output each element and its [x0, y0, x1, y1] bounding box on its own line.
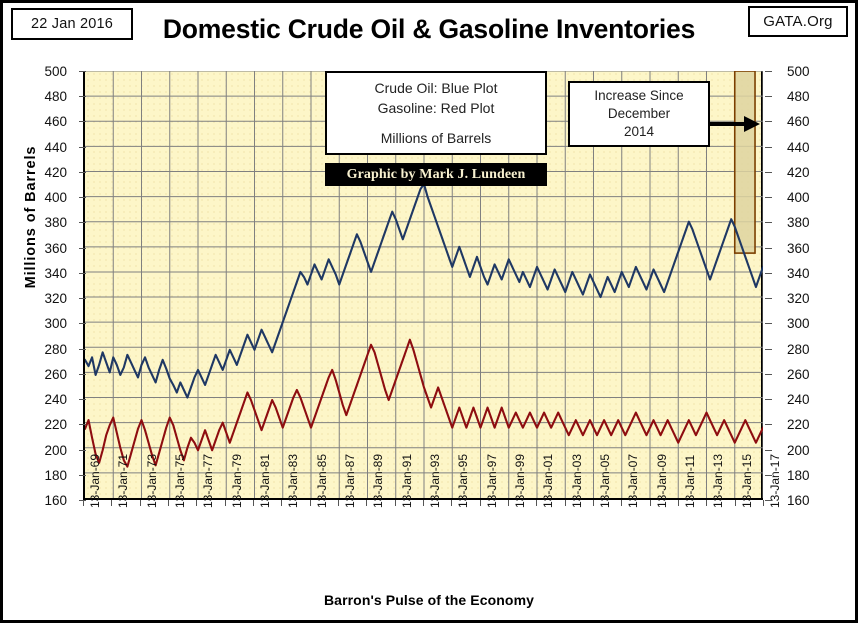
y-tick-label-left-460: 460	[44, 114, 67, 129]
x-tick-label-13-Jan-05: 13-Jan-05	[598, 454, 612, 508]
x-tick-label-13-Jan-73: 13-Jan-73	[145, 454, 159, 508]
x-tick-mark	[395, 500, 396, 506]
y-tick-mark	[765, 399, 772, 400]
annotation-line-3: 2014	[624, 123, 654, 141]
y-tick-label-right-500: 500	[787, 64, 810, 79]
x-tick-mark	[281, 500, 282, 506]
y-tick-mark	[79, 349, 86, 350]
y-tick-mark	[79, 147, 86, 148]
y-tick-label-left-500: 500	[44, 64, 67, 79]
y-tick-label-left-380: 380	[44, 215, 67, 230]
legend-units: Millions of Barrels	[381, 128, 491, 148]
y-tick-label-left-360: 360	[44, 241, 67, 256]
x-tick-label-13-Jan-75: 13-Jan-75	[173, 454, 187, 508]
x-tick-label-13-Jan-85: 13-Jan-85	[315, 454, 329, 508]
y-tick-label-left-180: 180	[44, 468, 67, 483]
x-tick-mark	[536, 500, 537, 506]
y-tick-mark	[79, 121, 86, 122]
chart-page: 22 Jan 2016 GATA.Org Domestic Crude Oil …	[0, 0, 858, 623]
y-axis-left-ticks: 1601802002202402602803003203403603804004…	[3, 3, 81, 623]
x-tick-label-13-Jan-15: 13-Jan-15	[740, 454, 754, 508]
y-tick-label-left-420: 420	[44, 165, 67, 180]
x-tick-label-13-Jan-79: 13-Jan-79	[230, 454, 244, 508]
x-tick-mark	[565, 500, 566, 506]
y-tick-label-right-400: 400	[787, 190, 810, 205]
annotation-callout: Increase Since December 2014	[568, 81, 710, 147]
y-tick-label-left-300: 300	[44, 316, 67, 331]
y-tick-label-left-160: 160	[44, 493, 67, 508]
y-tick-mark	[765, 374, 772, 375]
x-tick-label-13-Jan-09: 13-Jan-09	[655, 454, 669, 508]
y-tick-label-left-340: 340	[44, 266, 67, 281]
y-tick-label-right-220: 220	[787, 417, 810, 432]
x-tick-mark	[168, 500, 169, 506]
y-tick-mark	[765, 222, 772, 223]
y-tick-label-right-240: 240	[787, 392, 810, 407]
y-tick-mark	[765, 96, 772, 97]
y-tick-mark	[765, 424, 772, 425]
x-tick-label-13-Jan-03: 13-Jan-03	[570, 454, 584, 508]
x-tick-label-13-Jan-95: 13-Jan-95	[456, 454, 470, 508]
x-tick-mark	[706, 500, 707, 506]
y-tick-mark	[79, 248, 86, 249]
x-tick-mark	[763, 500, 764, 506]
y-tick-label-left-220: 220	[44, 417, 67, 432]
y-tick-mark	[79, 298, 86, 299]
y-tick-label-right-260: 260	[787, 367, 810, 382]
y-tick-mark	[765, 500, 772, 501]
legend: Crude Oil: Blue Plot Gasoline: Red Plot …	[325, 71, 547, 155]
x-tick-mark	[140, 500, 141, 506]
x-tick-mark	[480, 500, 481, 506]
y-tick-label-right-160: 160	[787, 493, 810, 508]
y-tick-mark	[79, 197, 86, 198]
y-tick-label-right-460: 460	[787, 114, 810, 129]
y-tick-mark	[765, 172, 772, 173]
arrow-right-icon	[710, 115, 760, 133]
credit-label: Graphic by Mark J. Lundeen	[347, 167, 526, 183]
x-tick-label-13-Jan-13: 13-Jan-13	[711, 454, 725, 508]
y-tick-mark	[79, 172, 86, 173]
y-tick-label-left-200: 200	[44, 443, 67, 458]
y-tick-label-right-440: 440	[787, 140, 810, 155]
y-tick-label-right-380: 380	[787, 215, 810, 230]
x-tick-mark	[338, 500, 339, 506]
legend-line-gasoline: Gasoline: Red Plot	[378, 98, 495, 118]
x-tick-mark	[423, 500, 424, 506]
y-tick-mark	[765, 298, 772, 299]
y-tick-mark	[79, 71, 86, 72]
x-tick-mark	[366, 500, 367, 506]
y-tick-mark	[765, 248, 772, 249]
y-tick-label-left-320: 320	[44, 291, 67, 306]
y-tick-mark	[79, 450, 86, 451]
y-tick-mark	[79, 475, 86, 476]
y-tick-label-right-280: 280	[787, 342, 810, 357]
legend-line-crude: Crude Oil: Blue Plot	[375, 78, 498, 98]
y-tick-mark	[765, 349, 772, 350]
x-tick-mark	[508, 500, 509, 506]
y-tick-mark	[79, 96, 86, 97]
y-tick-mark	[765, 273, 772, 274]
y-tick-mark	[79, 273, 86, 274]
x-tick-label-13-Jan-01: 13-Jan-01	[541, 454, 555, 508]
x-tick-label-13-Jan-69: 13-Jan-69	[88, 454, 102, 508]
x-tick-label-13-Jan-89: 13-Jan-89	[371, 454, 385, 508]
y-tick-mark	[765, 450, 772, 451]
y-tick-label-left-480: 480	[44, 89, 67, 104]
y-tick-label-left-260: 260	[44, 367, 67, 382]
x-tick-mark	[310, 500, 311, 506]
credit-bar: Graphic by Mark J. Lundeen	[325, 163, 547, 186]
x-tick-mark	[650, 500, 651, 506]
y-tick-mark	[79, 374, 86, 375]
x-tick-mark	[111, 500, 112, 506]
y-tick-label-left-400: 400	[44, 190, 67, 205]
y-tick-label-right-480: 480	[787, 89, 810, 104]
page-title: Domestic Crude Oil & Gasoline Inventorie…	[3, 14, 855, 45]
x-tick-label-13-Jan-91: 13-Jan-91	[400, 454, 414, 508]
x-tick-label-13-Jan-93: 13-Jan-93	[428, 454, 442, 508]
annotation-line-1: Increase Since	[594, 87, 683, 105]
y-tick-label-left-240: 240	[44, 392, 67, 407]
highlight-region	[735, 71, 755, 253]
y-tick-label-left-280: 280	[44, 342, 67, 357]
y-tick-label-right-320: 320	[787, 291, 810, 306]
x-tick-mark	[593, 500, 594, 506]
x-tick-label-13-Jan-71: 13-Jan-71	[116, 454, 130, 508]
y-tick-mark	[79, 500, 86, 501]
y-tick-mark	[765, 121, 772, 122]
y-tick-label-right-300: 300	[787, 316, 810, 331]
y-tick-mark	[765, 71, 772, 72]
y-tick-mark	[765, 323, 772, 324]
x-tick-label-13-Jan-87: 13-Jan-87	[343, 454, 357, 508]
x-tick-label-13-Jan-07: 13-Jan-07	[626, 454, 640, 508]
y-tick-mark	[765, 475, 772, 476]
x-tick-mark	[621, 500, 622, 506]
x-tick-label-13-Jan-77: 13-Jan-77	[201, 454, 215, 508]
x-tick-mark	[253, 500, 254, 506]
y-tick-mark	[765, 147, 772, 148]
y-tick-label-right-180: 180	[787, 468, 810, 483]
x-tick-label-13-Jan-81: 13-Jan-81	[258, 454, 272, 508]
y-tick-mark	[79, 222, 86, 223]
x-tick-mark	[678, 500, 679, 506]
x-tick-label-13-Jan-83: 13-Jan-83	[286, 454, 300, 508]
y-tick-mark	[79, 424, 86, 425]
x-tick-mark	[451, 500, 452, 506]
x-tick-mark	[735, 500, 736, 506]
annotation-line-2: December	[608, 105, 670, 123]
y-axis-right-ticks: 1601802002202402602803003203403603804004…	[769, 3, 839, 623]
y-tick-label-right-340: 340	[787, 266, 810, 281]
y-tick-mark	[79, 323, 86, 324]
x-axis-title: Barron's Pulse of the Economy	[3, 592, 855, 608]
x-tick-mark	[225, 500, 226, 506]
x-tick-label-13-Jan-97: 13-Jan-97	[485, 454, 499, 508]
y-tick-label-left-440: 440	[44, 140, 67, 155]
x-tick-mark	[196, 500, 197, 506]
y-tick-mark	[765, 197, 772, 198]
y-tick-label-right-360: 360	[787, 241, 810, 256]
y-tick-label-right-420: 420	[787, 165, 810, 180]
y-tick-label-right-200: 200	[787, 443, 810, 458]
x-tick-label-13-Jan-99: 13-Jan-99	[513, 454, 527, 508]
y-tick-mark	[79, 399, 86, 400]
x-tick-label-13-Jan-11: 13-Jan-11	[683, 455, 697, 508]
